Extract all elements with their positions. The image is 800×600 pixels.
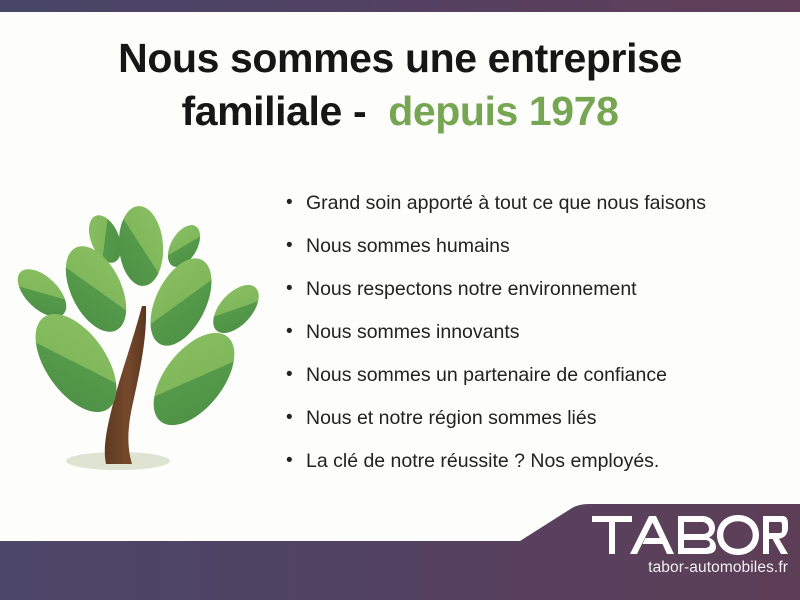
title-line-1: Nous sommes une entreprise — [60, 32, 740, 85]
list-item-label: Nous sommes innovants — [306, 317, 520, 347]
tree-leaf — [116, 205, 165, 288]
title-dash — [342, 88, 353, 134]
bullet-marker-icon: • — [286, 231, 306, 261]
bullet-list: • Grand soin apporté à tout ce que nous … — [286, 188, 786, 489]
title-dash-glyph: - — [353, 88, 366, 134]
list-item-label: La clé de notre réussite ? Nos employés. — [306, 446, 659, 476]
bullet-marker-icon: • — [286, 188, 306, 218]
list-item-label: Nous et notre région sommes liés — [306, 403, 596, 433]
bullet-marker-icon: • — [286, 274, 306, 304]
title-accent: depuis 1978 — [388, 88, 618, 134]
tabor-wordmark-icon — [592, 512, 788, 556]
list-item: • La clé de notre réussite ? Nos employé… — [286, 446, 786, 489]
bullet-marker-icon: • — [286, 317, 306, 347]
list-item: • Nous sommes humains — [286, 231, 786, 274]
list-item: • Nous et notre région sommes liés — [286, 403, 786, 446]
list-item-label: Nous sommes humains — [306, 231, 510, 261]
bullet-marker-icon: • — [286, 360, 306, 390]
bullet-marker-icon: • — [286, 446, 306, 476]
list-item: • Grand soin apporté à tout ce que nous … — [286, 188, 786, 231]
list-item-label: Grand soin apporté à tout ce que nous fa… — [306, 188, 706, 218]
list-item-label: Nous respectons notre environnement — [306, 274, 637, 304]
slide-canvas: Nous sommes une entreprise familiale - d… — [0, 0, 800, 600]
list-item: • Nous respectons notre environnement — [286, 274, 786, 317]
title-line-2-prefix: familiale — [181, 88, 341, 134]
tree-leaf — [14, 261, 75, 326]
page-title: Nous sommes une entreprise familiale - d… — [60, 32, 740, 138]
tree-illustration — [14, 176, 276, 494]
logo-url-text[interactable]: tabor-automobiles.fr — [592, 558, 792, 578]
title-line-2: familiale - depuis 1978 — [60, 85, 740, 138]
list-item: • Nous sommes innovants — [286, 317, 786, 360]
top-decorative-bar — [0, 0, 800, 12]
bullet-marker-icon: • — [286, 403, 306, 433]
logo[interactable]: tabor-automobiles.fr — [592, 512, 792, 590]
list-item: • Nous sommes un partenaire de confiance — [286, 360, 786, 403]
title-space — [366, 88, 388, 134]
tree-leaf — [205, 277, 268, 342]
list-item-label: Nous sommes un partenaire de confiance — [306, 360, 667, 390]
